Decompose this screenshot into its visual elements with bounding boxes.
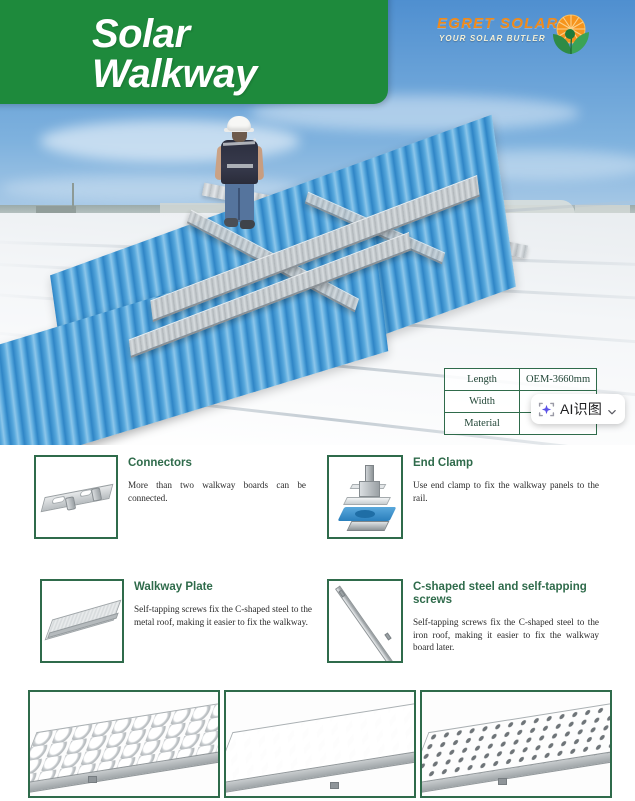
feature-description: More than two walkway boards can be conn…: [128, 479, 306, 504]
worker-figure: [213, 116, 265, 234]
feature-title: End Clamp: [413, 457, 599, 470]
feature-image-end-clamp: [327, 455, 403, 539]
chevron-down-icon[interactable]: [607, 404, 617, 414]
feature-item-walkway-plate: Walkway Plate Self-tapping screws fix th…: [40, 579, 312, 663]
worker-torso: [221, 140, 258, 184]
spec-label: Length: [445, 369, 520, 391]
gallery-item-perforated-plate: [420, 690, 612, 798]
gallery-item-embossed-plate: [28, 690, 220, 798]
product-brochure-page: Solar Walkway EGRET SOLAR YOUR SOLAR BUT…: [0, 0, 635, 801]
feature-image-walkway-plate: [40, 579, 124, 663]
feature-text: End Clamp Use end clamp to fix the walkw…: [413, 455, 599, 539]
clamp-blue-hole: [355, 510, 375, 518]
brand-name: EGRET SOLAR: [437, 15, 559, 32]
spec-value: OEM-3660mm: [520, 369, 597, 391]
worker-shoe: [224, 218, 238, 227]
ai-image-recognition-widget[interactable]: AI识图: [531, 394, 625, 424]
clamp-bolt: [365, 465, 374, 482]
feature-description: Self-tapping screws fix the C-shaped ste…: [134, 603, 312, 628]
brand-logo: EGRET SOLAR YOUR SOLAR BUTLER: [437, 12, 589, 56]
white-helmet-icon: [227, 116, 251, 131]
feature-text: C-shaped steel and self-tapping screws S…: [413, 579, 599, 663]
feature-description: Use end clamp to fix the walkway panels …: [413, 479, 599, 504]
feature-title: Connectors: [128, 457, 306, 470]
safety-harness-belt: [227, 164, 253, 168]
feature-text: Connectors More than two walkway boards …: [128, 455, 306, 539]
product-gallery-strip: [0, 690, 635, 801]
gallery-item-mesh-plate: [224, 690, 416, 798]
page-title: Solar Walkway: [92, 14, 257, 94]
worker-shoe: [240, 220, 255, 229]
ai-widget-label: AI识图: [560, 399, 602, 419]
c-shaped-steel-rail: [335, 586, 395, 663]
plate-end-tab: [330, 782, 339, 789]
plate-end-tab: [498, 778, 507, 785]
feature-image-connectors: [34, 455, 118, 539]
clamp-base: [347, 521, 390, 531]
feature-description: Self-tapping screws fix the C-shaped ste…: [413, 616, 599, 654]
feature-grid: Connectors More than two walkway boards …: [0, 450, 635, 685]
table-row: Length OEM-3660mm: [445, 369, 597, 391]
feature-text: Walkway Plate Self-tapping screws fix th…: [134, 579, 312, 663]
plate-end-tab: [88, 776, 97, 783]
clamp-body: [359, 481, 380, 497]
sun-leaf-logo-icon: [547, 12, 591, 56]
feature-item-connectors: Connectors More than two walkway boards …: [34, 455, 306, 539]
worker-leg-split: [238, 188, 240, 220]
feature-image-c-steel: [327, 579, 403, 663]
feature-item-end-clamp: End Clamp Use end clamp to fix the walkw…: [327, 455, 599, 539]
feature-title: Walkway Plate: [134, 581, 312, 594]
roof-mast: [72, 183, 74, 209]
brand-tagline: YOUR SOLAR BUTLER: [439, 34, 546, 43]
clamp-plate: [343, 497, 391, 505]
spec-label: Width: [445, 391, 520, 413]
ai-sparkle-scan-icon: [538, 401, 555, 418]
spec-label: Material: [445, 413, 520, 435]
feature-title: C-shaped steel and self-tapping screws: [413, 581, 599, 607]
feature-item-c-steel: C-shaped steel and self-tapping screws S…: [327, 579, 599, 663]
connector-plate: [41, 484, 114, 512]
self-tapping-screw-icon: [384, 632, 391, 640]
